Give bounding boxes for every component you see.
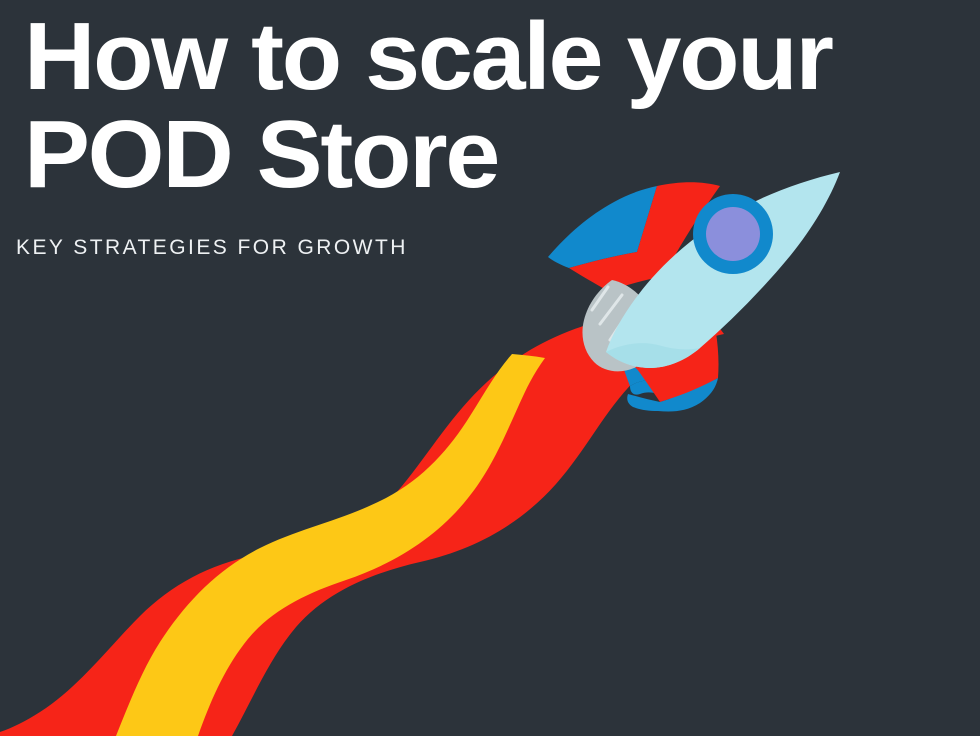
title-slide: How to scale your POD Store KEY STRATEGI… (0, 0, 980, 736)
rocket-illustration (0, 0, 980, 736)
flame-yellow-ribbon (116, 354, 545, 736)
rocket-window-glass (706, 207, 760, 261)
